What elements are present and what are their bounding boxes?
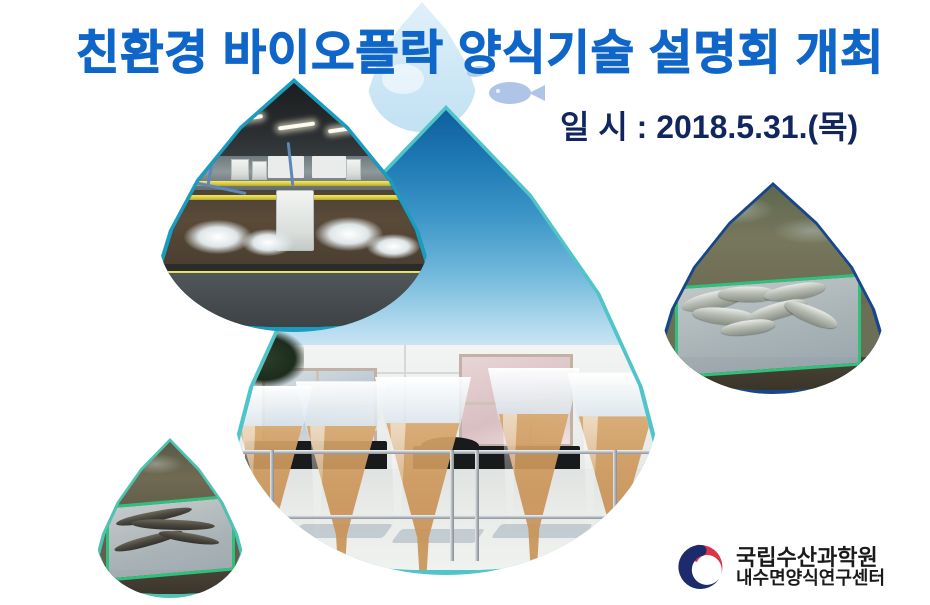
equipment-box xyxy=(252,161,267,180)
fish-body xyxy=(489,82,531,104)
event-date-line: 일 시 : 2018.5.31.(목) xyxy=(560,106,890,148)
eel-net-photo xyxy=(96,438,244,598)
department-name: 내수면양식연구센터 xyxy=(736,569,885,588)
settling-cone xyxy=(375,377,471,570)
rack-rail xyxy=(237,515,655,519)
poster-canvas: 친환경 바이오플락 양식기술 설명회 개최 일 시 : 2018.5.31.(목… xyxy=(0,0,930,605)
cone-rim xyxy=(296,381,388,431)
fish-eye xyxy=(496,89,500,93)
foam-patch xyxy=(184,220,252,254)
photo-inner xyxy=(666,186,880,390)
eel xyxy=(158,528,220,547)
foliage xyxy=(237,331,304,386)
fish xyxy=(781,297,839,333)
cone-water xyxy=(375,423,471,570)
settling-cone xyxy=(567,372,655,556)
bright-doorway xyxy=(312,156,346,178)
bright-doorway xyxy=(268,156,305,178)
eel xyxy=(130,518,214,531)
harvested-fish-net-photo xyxy=(662,182,884,394)
cone-rim xyxy=(567,372,655,422)
harvest-net xyxy=(106,494,235,581)
organization-name: 국립수산과학원 xyxy=(736,546,885,569)
cone-rim xyxy=(488,368,580,420)
institute-logo: 국립수산과학원 내수면양식연구센터 xyxy=(676,538,901,596)
logo-text-block: 국립수산과학원 내수면양식연구센터 xyxy=(736,546,885,588)
rack-rail xyxy=(237,450,655,454)
korean-government-taegeuk-logo-icon xyxy=(676,542,726,592)
settling-cone xyxy=(488,368,580,561)
cone-water xyxy=(488,414,580,561)
equipment-box xyxy=(346,159,361,181)
rack-post xyxy=(475,450,479,560)
ceiling-lamp xyxy=(194,132,220,140)
foam-patch xyxy=(367,234,419,258)
foam-patch xyxy=(242,229,294,256)
settling-cone xyxy=(296,381,388,565)
photo-inner xyxy=(100,442,240,594)
poster-headline: 친환경 바이오플락 양식기술 설명회 개최 xyxy=(76,24,876,82)
decorative-fish-icon xyxy=(489,82,545,104)
cone-rim xyxy=(375,377,471,429)
rack-post xyxy=(450,450,454,560)
harvest-net xyxy=(675,273,861,378)
cone-water xyxy=(567,416,655,556)
equipment-box xyxy=(231,159,249,181)
rack-post xyxy=(613,450,617,524)
cone-water xyxy=(296,426,388,566)
fish-tail xyxy=(529,85,545,101)
rack-post xyxy=(270,450,274,524)
